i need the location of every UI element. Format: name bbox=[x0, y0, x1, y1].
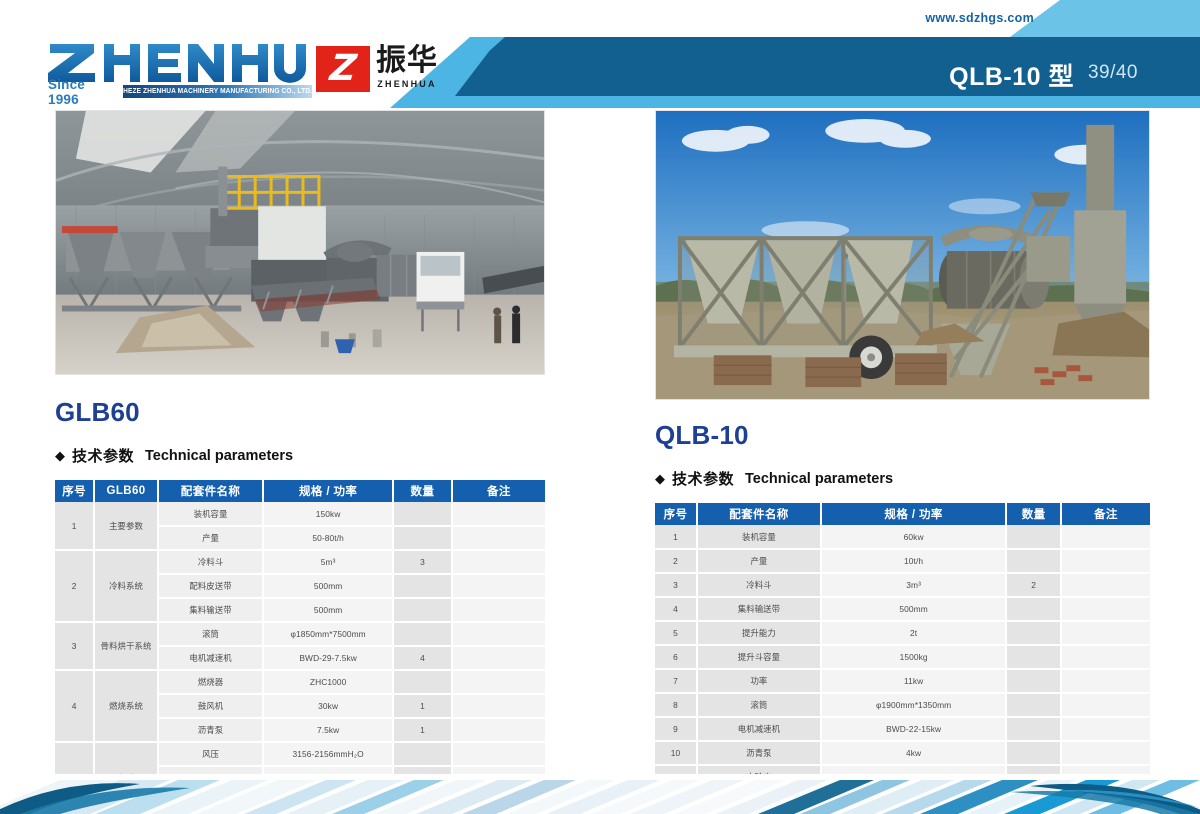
row-index: 1 bbox=[55, 502, 94, 550]
col-spec: 规格 / 功率 bbox=[821, 503, 1007, 525]
row-part: 集料输送带 bbox=[697, 597, 821, 621]
row-remark bbox=[1061, 549, 1150, 573]
footer-stripe-graphic bbox=[0, 774, 1200, 814]
row-system: 燃烧系统 bbox=[94, 670, 158, 742]
table-row: 3冷料斗3m³2 bbox=[655, 573, 1150, 597]
row-index: 3 bbox=[655, 573, 697, 597]
row-qty bbox=[393, 670, 452, 694]
row-qty bbox=[1006, 549, 1060, 573]
left-product-title: GLB60 bbox=[55, 397, 545, 428]
page-header: www.sdzhgs.com bbox=[0, 0, 1200, 108]
col-qty: 数量 bbox=[1006, 503, 1060, 525]
table-row: 9电机减速机BWD-22-15kw bbox=[655, 717, 1150, 741]
row-spec: 4kw bbox=[821, 741, 1007, 765]
row-qty bbox=[1006, 621, 1060, 645]
table-row: 1装机容量60kw bbox=[655, 525, 1150, 549]
diamond-bullet-icon: ◆ bbox=[655, 472, 665, 485]
row-remark bbox=[452, 646, 545, 670]
row-qty bbox=[393, 526, 452, 550]
row-spec: φ1900mm*1350mm bbox=[821, 693, 1007, 717]
catalog-page: www.sdzhgs.com bbox=[0, 0, 1200, 814]
table-row: 5提升能力2t bbox=[655, 621, 1150, 645]
col-part: 配套件名称 bbox=[158, 480, 263, 502]
row-system: 主要参数 bbox=[94, 502, 158, 550]
row-index: 10 bbox=[655, 741, 697, 765]
row-qty bbox=[1006, 525, 1060, 549]
row-remark bbox=[452, 598, 545, 622]
table-row: 1主要参数装机容量150kw bbox=[55, 502, 545, 526]
row-index: 4 bbox=[655, 597, 697, 621]
row-spec: 10t/h bbox=[821, 549, 1007, 573]
row-remark bbox=[1061, 669, 1150, 693]
row-qty: 4 bbox=[393, 646, 452, 670]
row-part: 风压 bbox=[158, 742, 263, 766]
col-no: 序号 bbox=[655, 503, 697, 525]
since-label: Since 1996 bbox=[48, 77, 118, 107]
row-spec: 50-80t/h bbox=[263, 526, 393, 550]
row-spec: φ1850mm*7500mm bbox=[263, 622, 393, 646]
table-header-row: 序号 GLB60 配套件名称 规格 / 功率 数量 备注 bbox=[55, 480, 545, 502]
table-header-row: 序号 配套件名称 规格 / 功率 数量 备注 bbox=[655, 503, 1150, 525]
row-qty bbox=[1006, 645, 1060, 669]
row-index: 2 bbox=[55, 550, 94, 622]
row-spec: BWD-29-7.5kw bbox=[263, 646, 393, 670]
row-remark bbox=[452, 622, 545, 646]
row-part: 滚筒 bbox=[697, 693, 821, 717]
row-qty bbox=[1006, 669, 1060, 693]
row-remark bbox=[452, 526, 545, 550]
row-qty bbox=[393, 598, 452, 622]
row-index: 5 bbox=[655, 621, 697, 645]
col-no: 序号 bbox=[55, 480, 94, 502]
right-section-heading: ◆ 技术参数 Technical parameters bbox=[655, 468, 1150, 489]
row-part: 鼓风机 bbox=[158, 694, 263, 718]
row-spec: 2t bbox=[821, 621, 1007, 645]
row-index: 8 bbox=[655, 693, 697, 717]
row-part: 滚筒 bbox=[158, 622, 263, 646]
row-remark bbox=[1061, 597, 1150, 621]
page-footer-decoration bbox=[0, 774, 1200, 814]
row-remark bbox=[1061, 573, 1150, 597]
row-index: 7 bbox=[655, 669, 697, 693]
company-name: HEZE ZHENHUA MACHINERY MANUFACTURING CO.… bbox=[123, 88, 312, 95]
table-row: 8滚筒φ1900mm*1350mm bbox=[655, 693, 1150, 717]
table-row: 5引风机风压3156-2156mmH₂O bbox=[55, 742, 545, 766]
row-part: 提升能力 bbox=[697, 621, 821, 645]
right-column: QLB-10 ◆ 技术参数 Technical parameters 序号 配套… bbox=[655, 110, 1150, 814]
row-part: 沥青泵 bbox=[697, 741, 821, 765]
diamond-bullet-icon: ◆ bbox=[55, 449, 65, 462]
col-qty: 数量 bbox=[393, 480, 452, 502]
row-remark bbox=[452, 550, 545, 574]
row-part: 集料输送带 bbox=[158, 598, 263, 622]
row-qty bbox=[393, 574, 452, 598]
page-number: 39/40 bbox=[1088, 62, 1138, 84]
row-qty: 3 bbox=[393, 550, 452, 574]
glb60-plant-photo bbox=[55, 110, 545, 375]
row-index: 2 bbox=[655, 549, 697, 573]
row-spec: 60kw bbox=[821, 525, 1007, 549]
row-part: 冷料斗 bbox=[158, 550, 263, 574]
row-spec: 30kw bbox=[263, 694, 393, 718]
row-remark bbox=[1061, 525, 1150, 549]
row-remark bbox=[452, 670, 545, 694]
row-spec: 500mm bbox=[821, 597, 1007, 621]
row-spec: 500mm bbox=[263, 574, 393, 598]
row-qty bbox=[393, 742, 452, 766]
row-qty bbox=[1006, 597, 1060, 621]
row-remark bbox=[452, 502, 545, 526]
left-section-heading: ◆ 技术参数 Technical parameters bbox=[55, 445, 545, 466]
row-part: 功率 bbox=[697, 669, 821, 693]
row-spec: 3156-2156mmH₂O bbox=[263, 742, 393, 766]
row-system: 骨料烘干系统 bbox=[94, 622, 158, 670]
row-part: 装机容量 bbox=[697, 525, 821, 549]
row-spec: 500mm bbox=[263, 598, 393, 622]
row-qty bbox=[393, 502, 452, 526]
row-part: 电机减速机 bbox=[697, 717, 821, 741]
row-part: 燃烧器 bbox=[158, 670, 263, 694]
row-part: 电机减速机 bbox=[158, 646, 263, 670]
logo-pinyin: ZHENHUA bbox=[376, 79, 438, 89]
row-part: 装机容量 bbox=[158, 502, 263, 526]
row-remark bbox=[1061, 741, 1150, 765]
table-row: 10沥青泵4kw bbox=[655, 741, 1150, 765]
row-index: 1 bbox=[655, 525, 697, 549]
zhenhua-red-mark-icon: Z bbox=[316, 46, 370, 92]
zhenhua-chinese-logo: 振华 ZHENHUA bbox=[376, 46, 438, 89]
row-remark bbox=[1061, 621, 1150, 645]
row-part: 配料皮送带 bbox=[158, 574, 263, 598]
col-part: 配套件名称 bbox=[697, 503, 821, 525]
row-qty bbox=[1006, 741, 1060, 765]
row-index: 6 bbox=[655, 645, 697, 669]
row-remark bbox=[1061, 693, 1150, 717]
row-part: 沥青泵 bbox=[158, 718, 263, 742]
row-part: 产量 bbox=[158, 526, 263, 550]
row-spec: 5m³ bbox=[263, 550, 393, 574]
row-qty: 1 bbox=[393, 694, 452, 718]
row-index: 3 bbox=[55, 622, 94, 670]
table-row: 2冷料系统冷料斗5m³3 bbox=[55, 550, 545, 574]
row-remark bbox=[452, 718, 545, 742]
glb60-spec-table: 序号 GLB60 配套件名称 规格 / 功率 数量 备注 1主要参数装机容量15… bbox=[55, 480, 545, 814]
row-spec: BWD-22-15kw bbox=[821, 717, 1007, 741]
row-remark bbox=[1061, 717, 1150, 741]
left-column: GLB60 ◆ 技术参数 Technical parameters 序号 GLB… bbox=[55, 110, 545, 814]
logo-subtitle: Since 1996 HEZE ZHENHUA MACHINERY MANUFA… bbox=[48, 84, 312, 99]
table-row: 3骨料烘干系统滚筒φ1850mm*7500mm bbox=[55, 622, 545, 646]
right-product-title: QLB-10 bbox=[655, 420, 1150, 451]
row-index: 9 bbox=[655, 717, 697, 741]
row-system: 冷料系统 bbox=[94, 550, 158, 622]
row-spec: 1500kg bbox=[821, 645, 1007, 669]
z-glyph: Z bbox=[328, 51, 358, 87]
row-spec: 7.5kw bbox=[263, 718, 393, 742]
row-part: 冷料斗 bbox=[697, 573, 821, 597]
row-qty: 2 bbox=[1006, 573, 1060, 597]
col-spec: 规格 / 功率 bbox=[263, 480, 393, 502]
right-section-cn: 技术参数 bbox=[672, 468, 734, 489]
table-row: 6提升斗容量1500kg bbox=[655, 645, 1150, 669]
right-section-en: Technical parameters bbox=[745, 471, 893, 487]
table-row: 4集料输送带500mm bbox=[655, 597, 1150, 621]
row-spec: 11kw bbox=[821, 669, 1007, 693]
row-part: 产量 bbox=[697, 549, 821, 573]
col-remark: 备注 bbox=[452, 480, 545, 502]
row-spec: ZHC1000 bbox=[263, 670, 393, 694]
row-qty bbox=[1006, 693, 1060, 717]
row-qty bbox=[393, 622, 452, 646]
logo-chinese-name: 振华 bbox=[376, 46, 438, 76]
row-index: 4 bbox=[55, 670, 94, 742]
row-spec: 3m³ bbox=[821, 573, 1007, 597]
row-part: 提升斗容量 bbox=[697, 645, 821, 669]
row-spec: 150kw bbox=[263, 502, 393, 526]
row-remark bbox=[1061, 645, 1150, 669]
col-remark: 备注 bbox=[1061, 503, 1150, 525]
row-qty: 1 bbox=[393, 718, 452, 742]
table-row: 7功率11kw bbox=[655, 669, 1150, 693]
col-model: GLB60 bbox=[94, 480, 158, 502]
row-remark bbox=[452, 574, 545, 598]
row-remark bbox=[452, 742, 545, 766]
table-row: 2产量10t/h bbox=[655, 549, 1150, 573]
table-row: 4燃烧系统燃烧器ZHC1000 bbox=[55, 670, 545, 694]
company-name-bar: HEZE ZHENHUA MACHINERY MANUFACTURING CO.… bbox=[123, 85, 312, 98]
row-remark bbox=[452, 694, 545, 718]
row-qty bbox=[1006, 717, 1060, 741]
left-section-cn: 技术参数 bbox=[72, 445, 134, 466]
qlb10-plant-photo bbox=[655, 110, 1150, 400]
left-section-en: Technical parameters bbox=[145, 448, 293, 464]
qlb10-spec-table: 序号 配套件名称 规格 / 功率 数量 备注 1装机容量60kw2产量10t/h… bbox=[655, 503, 1150, 814]
website-url[interactable]: www.sdzhgs.com bbox=[925, 11, 1034, 25]
page-title: QLB-10 型 bbox=[949, 57, 1074, 93]
